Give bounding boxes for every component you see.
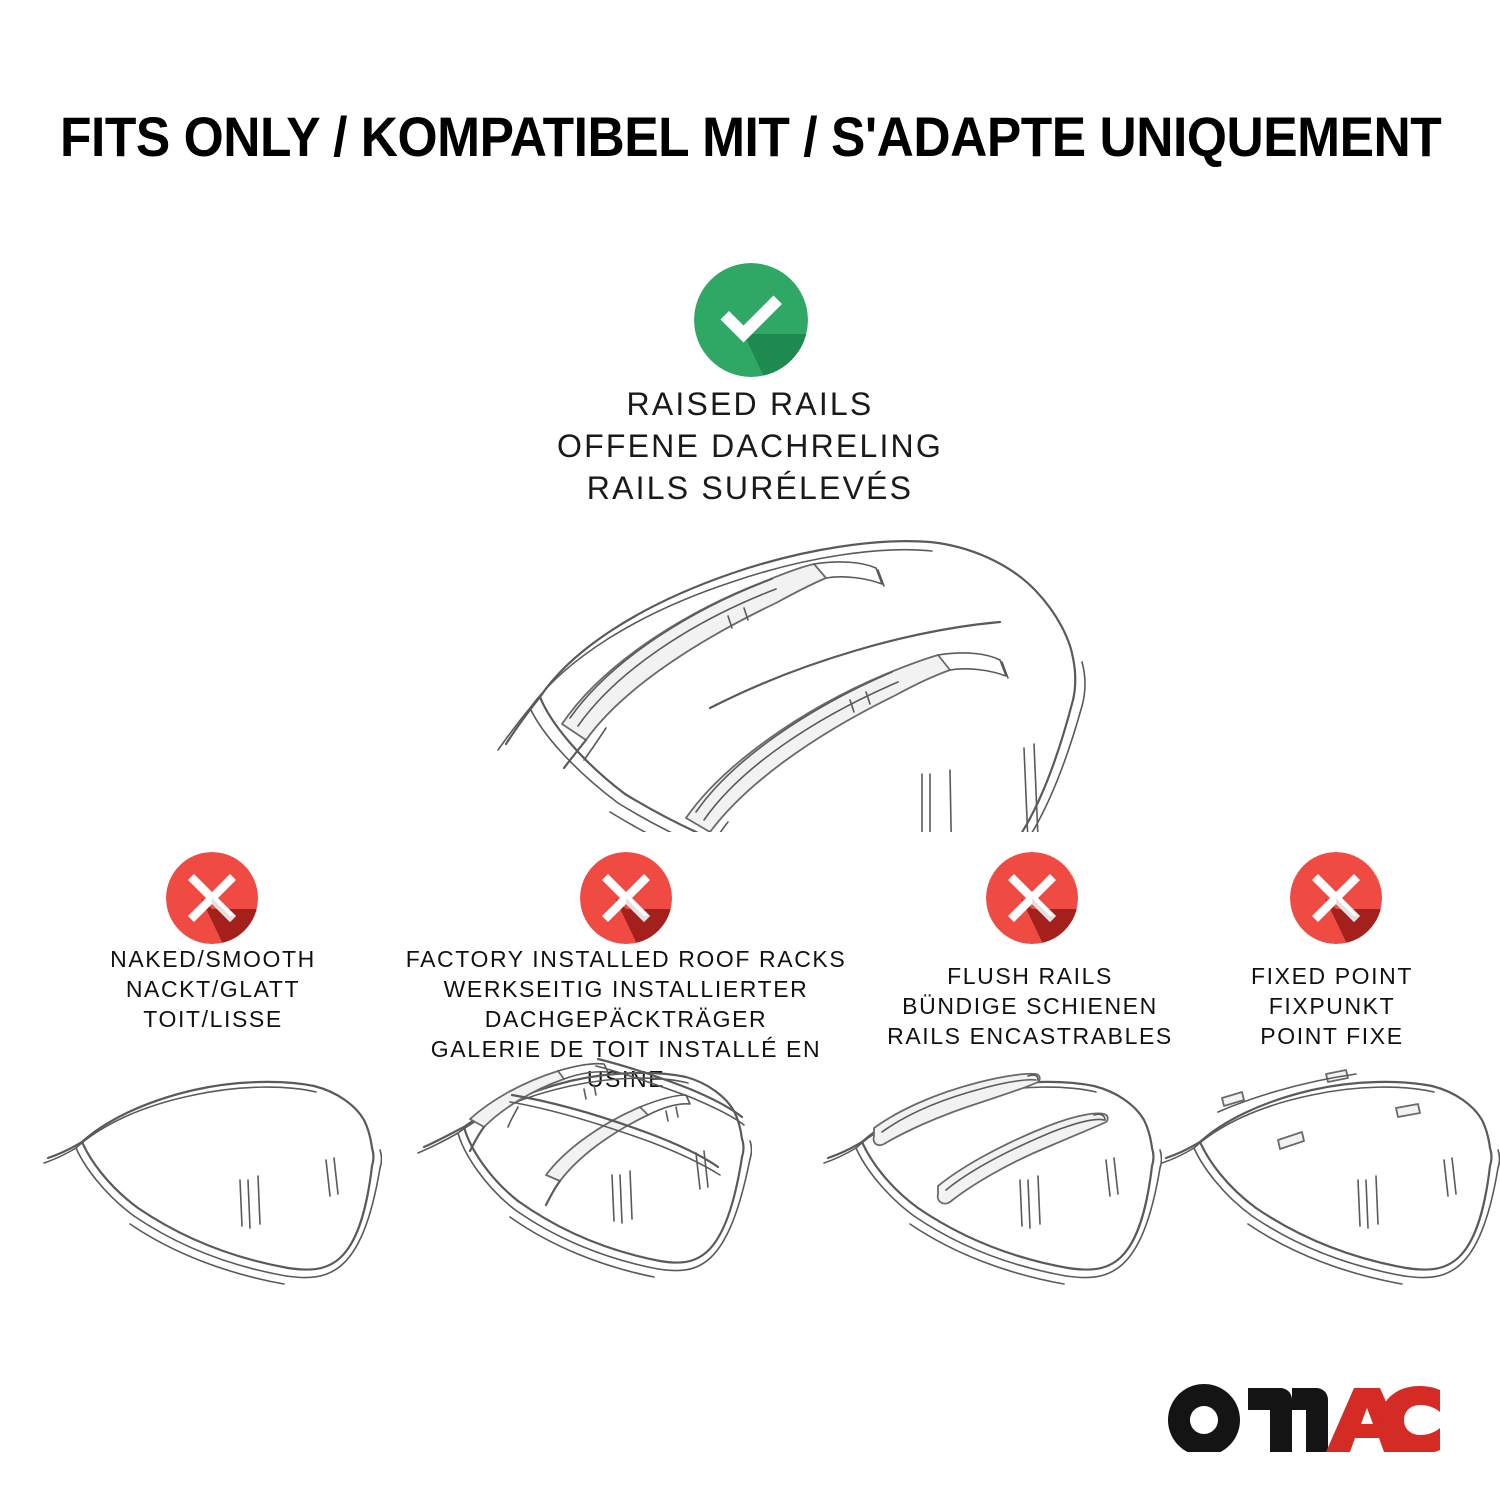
fitment-infographic: FITS ONLY / KOMPATIBEL MIT / S'ADAPTE UN… [0, 0, 1500, 1500]
page-title: FITS ONLY / KOMPATIBEL MIT / S'ADAPTE UN… [60, 104, 1440, 169]
omac-logo [1168, 1380, 1440, 1452]
incompatible-label-flush-rails: FLUSH RAILS BÜNDIGE SCHIENEN RAILS ENCAS… [862, 962, 1198, 1052]
car-roof-flush-rails-illustration [822, 1062, 1162, 1288]
compatible-label: RAISED RAILS OFFENE DACHRELING RAILS SUR… [400, 383, 1100, 510]
car-roof-factory-roof-racks-illustration [408, 1055, 752, 1287]
car-roof-naked-smooth-illustration [42, 1062, 382, 1288]
car-roof-fixed-point-illustration [1160, 1062, 1500, 1288]
check-circle-icon [694, 263, 808, 377]
cross-circle-icon [580, 852, 672, 944]
cross-circle-icon [1290, 852, 1382, 944]
car-roof-raised-rails-illustration [410, 512, 1100, 832]
cross-circle-icon [986, 852, 1078, 944]
incompatible-label-naked-smooth: NAKED/SMOOTH NACKT/GLATT TOIT/LISSE [45, 945, 381, 1035]
cross-circle-icon [166, 852, 258, 944]
incompatible-label-fixed-point: FIXED POINT FIXPUNKT POINT FIXE [1186, 962, 1478, 1052]
omac-logo-mark [1168, 1380, 1440, 1452]
